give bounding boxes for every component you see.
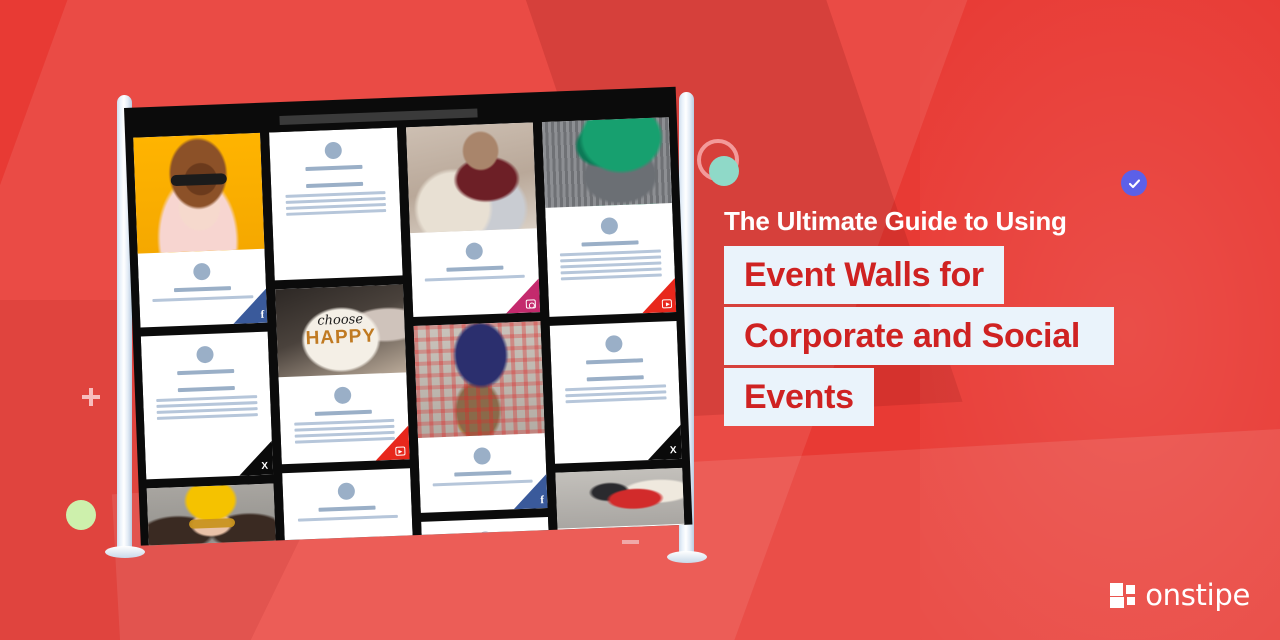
post-body-placeholder <box>141 332 272 435</box>
wall-post-card[interactable]: f <box>413 321 547 513</box>
avatar <box>605 335 623 353</box>
post-body-placeholder <box>421 517 549 535</box>
placeholder-text-line <box>446 266 503 272</box>
x-badge-icon[interactable]: X <box>238 441 273 476</box>
post-photo <box>133 133 265 254</box>
youtube-badge-icon[interactable] <box>641 278 676 313</box>
wall-column: fX <box>133 133 276 546</box>
minus-mark-icon <box>622 540 639 544</box>
post-photo <box>413 321 544 438</box>
post-body-placeholder <box>269 128 400 231</box>
headline-line-1: Event Walls for <box>724 246 1004 304</box>
headline-line-1-row: Event Walls for <box>724 246 1264 307</box>
avatar <box>325 142 343 160</box>
avatar <box>476 531 494 535</box>
placeholder-text-line <box>587 375 644 381</box>
placeholder-text-line <box>566 396 667 403</box>
brand-name: onstipe <box>1145 578 1250 612</box>
headline-line-3: Events <box>724 368 874 426</box>
avatar <box>338 482 356 500</box>
wall-column: chooseHAPPY <box>269 128 412 541</box>
placeholder-text-line <box>581 240 638 246</box>
dot-circle-teal-icon <box>709 156 739 186</box>
post-photo: chooseHAPPY <box>275 284 406 377</box>
headline-line-3-row: Events <box>724 368 1264 429</box>
placeholder-text-line <box>177 369 234 375</box>
placeholder-text-line <box>286 209 387 216</box>
placeholder-text-line <box>306 165 363 171</box>
wall-post-card[interactable]: f <box>133 133 267 328</box>
post-body-placeholder <box>549 321 680 418</box>
dot-circle-green-icon <box>66 500 96 530</box>
event-wall[interactable]: fXchooseHAPPYfX <box>124 87 692 546</box>
verified-check-badge-icon <box>1121 170 1147 196</box>
avatar <box>465 242 483 260</box>
avatar <box>196 346 214 364</box>
placeholder-text-line <box>307 182 364 188</box>
wall-stand-right-base <box>667 551 707 563</box>
placeholder-text-line <box>586 358 643 364</box>
wall-post-card[interactable] <box>269 128 402 281</box>
avatar <box>600 217 618 235</box>
wall-post-card[interactable] <box>405 122 539 317</box>
placeholder-text-line <box>315 410 372 416</box>
wall-column: f <box>405 122 548 535</box>
wall-post-card[interactable]: X <box>141 332 274 480</box>
avatar <box>334 386 352 404</box>
post-photo <box>555 468 684 529</box>
wall-post-card[interactable]: chooseHAPPY <box>275 284 409 464</box>
photo-overlay-text: chooseHAPPY <box>276 311 405 352</box>
photo-overlay-text-line-2: HAPPY <box>277 325 405 352</box>
wall-card-grid[interactable]: fXchooseHAPPYfX <box>133 117 684 545</box>
facebook-badge-icon[interactable]: f <box>512 474 547 509</box>
wall-post-card[interactable]: X <box>549 321 681 464</box>
wall-post-card[interactable] <box>421 517 549 535</box>
event-wall-screen[interactable]: fXchooseHAPPYfX <box>124 87 692 546</box>
wall-column: X <box>542 117 685 530</box>
youtube-badge-icon[interactable] <box>374 425 409 460</box>
placeholder-text-line <box>298 515 399 522</box>
facebook-badge-icon[interactable]: f <box>232 289 267 324</box>
wall-post-card[interactable] <box>282 468 412 540</box>
onstipe-blocks-icon <box>1110 582 1136 608</box>
placeholder-text-line <box>454 470 511 476</box>
headline-kicker: The Ultimate Guide to Using <box>724 205 1264 237</box>
headline-line-2: Corporate and Social <box>724 307 1114 365</box>
x-badge-icon[interactable]: X <box>647 425 682 460</box>
wall-title-placeholder <box>279 108 477 125</box>
wall-post-card[interactable] <box>555 468 684 530</box>
photo-overlay-text-line-1: choose <box>276 311 404 331</box>
brand-logo[interactable]: onstipe <box>1110 578 1250 612</box>
headline-block: The Ultimate Guide to Using Event Walls … <box>724 205 1264 429</box>
post-photo <box>405 122 536 233</box>
avatar <box>473 447 491 465</box>
post-body-placeholder <box>282 468 412 536</box>
avatar <box>193 263 211 281</box>
instagram-badge-icon[interactable] <box>505 278 540 313</box>
headline-line-2-row: Corporate and Social <box>724 307 1264 368</box>
wall-post-card[interactable] <box>147 484 276 546</box>
placeholder-text-line <box>178 386 235 392</box>
placeholder-text-line <box>319 506 376 512</box>
placeholder-text-line <box>157 413 258 420</box>
post-photo <box>147 484 276 546</box>
wall-stand-left-base <box>105 546 145 558</box>
wall-post-card[interactable] <box>542 117 677 317</box>
plus-mark-icon <box>82 388 100 406</box>
promo-banner: fXchooseHAPPYfX The Ultimate Guide to Us… <box>0 0 1280 640</box>
placeholder-text-line <box>174 286 231 292</box>
post-photo <box>542 117 672 208</box>
